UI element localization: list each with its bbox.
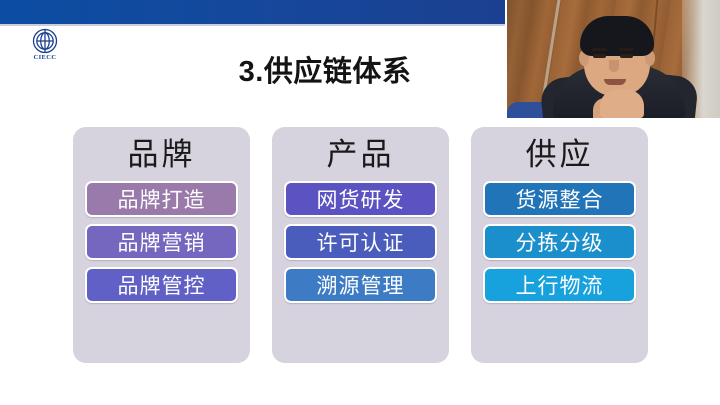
ciecc-wordmark: CIECC bbox=[22, 54, 68, 61]
presenter-eyebrow-right bbox=[619, 48, 634, 51]
chip-item[interactable]: 上行物流 bbox=[483, 267, 636, 303]
chip-item[interactable]: 许可认证 bbox=[284, 224, 437, 260]
ciecc-logo-icon: CIECC bbox=[22, 27, 68, 65]
presenter-eye-right bbox=[620, 54, 633, 58]
presenter-nose bbox=[609, 60, 619, 72]
column-card-brand: 品牌 品牌打造 品牌营销 品牌管控 bbox=[73, 127, 250, 363]
chip-item[interactable]: 网货研发 bbox=[284, 181, 437, 217]
chip-item[interactable]: 品牌营销 bbox=[85, 224, 238, 260]
column-title: 产品 bbox=[327, 134, 395, 176]
chip-list: 网货研发 许可认证 溯源管理 bbox=[284, 181, 437, 303]
column-card-supply: 供应 货源整合 分拣分级 上行物流 bbox=[471, 127, 648, 363]
supply-chain-columns: 品牌 品牌打造 品牌营销 品牌管控 产品 网货研发 许可认证 溯源管理 供应 货… bbox=[73, 127, 648, 363]
chip-list: 品牌打造 品牌营销 品牌管控 bbox=[85, 181, 238, 303]
page-title: 3.供应链体系 bbox=[160, 48, 490, 90]
presentation-slide: CIECC 3.供应链体系 品牌 品牌打造 品牌营销 品牌管 bbox=[0, 0, 720, 405]
presenter-mouth bbox=[604, 79, 626, 85]
column-title: 供应 bbox=[526, 134, 594, 176]
chip-item[interactable]: 品牌打造 bbox=[85, 181, 238, 217]
chip-item[interactable]: 品牌管控 bbox=[85, 267, 238, 303]
column-card-product: 产品 网货研发 许可认证 溯源管理 bbox=[272, 127, 449, 363]
presenter-eyebrow-left bbox=[592, 48, 607, 51]
chip-list: 货源整合 分拣分级 上行物流 bbox=[483, 181, 636, 303]
presenter-hands bbox=[600, 90, 644, 118]
presenter-eye-left bbox=[593, 54, 606, 58]
presenter-webcam[interactable] bbox=[505, 0, 720, 120]
chip-item[interactable]: 分拣分级 bbox=[483, 224, 636, 260]
column-title: 品牌 bbox=[128, 134, 196, 176]
chip-item[interactable]: 溯源管理 bbox=[284, 267, 437, 303]
chip-item[interactable]: 货源整合 bbox=[483, 181, 636, 217]
